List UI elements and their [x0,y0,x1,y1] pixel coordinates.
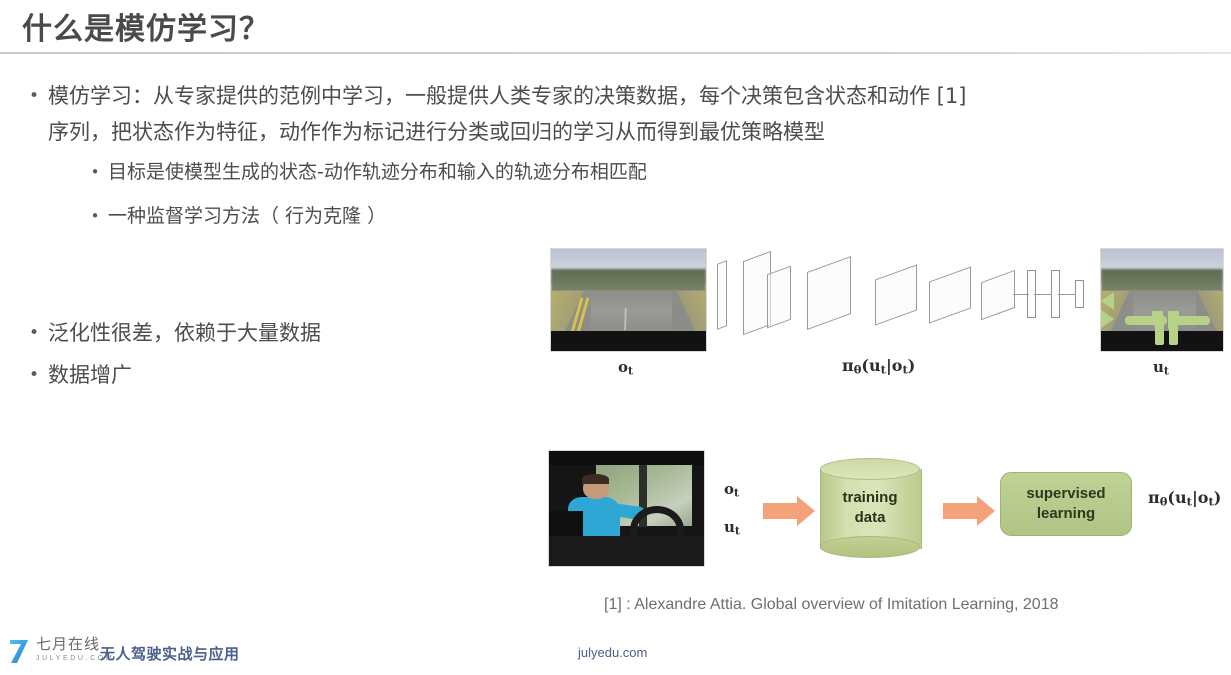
driver-cab-photo [548,450,705,567]
seven-logo-icon [8,638,30,664]
policy-given-o: |o [1192,488,1209,507]
caption-action: ut [1153,358,1169,377]
arrow-shaft [943,503,977,519]
training-data-label: training data [820,488,920,528]
arrow-head [797,496,815,526]
bullet-main-text: 模仿学习：从专家提供的范例中学习，一般提供人类专家的决策数据，每个决策包含状态和… [48,78,1220,150]
bullet-marker-icon: • [82,194,108,238]
conv-layer-3 [807,256,851,330]
policy-pi-symbol: π [842,356,854,375]
training-data-database-icon: training data [820,458,920,558]
slide-footer: 七月在线 JULYEDU.COM 无人驾驶实战与应用 julyedu.com [0,629,1231,675]
supervised-learning-box: supervised learning [1000,472,1132,536]
label-action: ut [724,510,740,548]
label-action-subscript: t [735,525,740,538]
dashboard-region [551,331,706,351]
conv-layer-4 [875,264,917,325]
bullet-sub-0: • 目标是使模型生成的状态-动作轨迹分布和输入的轨迹分布相匹配 [82,150,1220,194]
treeline-region [1101,269,1223,291]
cylinder-bottom [820,536,920,558]
conv-layer-5 [929,266,971,323]
cab-roof [549,451,704,465]
bullet-sub-0-text: 目标是使模型生成的状态-动作轨迹分布和输入的轨迹分布相匹配 [108,150,647,194]
training-data-line1: training [820,488,920,508]
observation-action-labels: ot ut [724,472,740,549]
bullet-marker-icon: • [20,354,48,396]
steering-arrow-overlay [1101,292,1223,345]
training-data-line2: data [820,508,920,528]
bullet-marker-icon: • [20,312,48,354]
caption-action-symbol: u [1153,358,1164,376]
bullet-marker-icon: • [20,78,48,114]
footer-site-link[interactable]: julyedu.com [578,645,647,660]
road-illustration [551,249,706,351]
green-arrow-left-bend [1152,311,1163,329]
page-title: 什么是模仿学习？ [22,4,270,48]
bullet-lower-0: • 泛化性很差，依赖于大量数据 [20,312,540,354]
citation-text: [1] : Alexandre Attia. Global overview o… [604,596,1059,614]
bullet-sub-1-text: 一种监督学习方法（ 行为克隆 ） [108,194,386,238]
supervised-output-policy: πθ(ut|ot) [1148,488,1221,509]
arrow-head [977,496,995,526]
fc-connector-2 [1034,294,1052,295]
bullet-list: • 模仿学习：从专家提供的范例中学习，一般提供人类专家的决策数据，每个决策包含状… [20,78,1220,238]
figure-behavior-cloning: ot πθ(ut|ot) ut [520,248,1220,388]
policy-open-arg: (u [1167,488,1186,507]
caption-action-subscript: t [1164,364,1169,377]
caption-observation-subscript: t [628,364,633,377]
bullet-lower-1-text: 数据增广 [48,354,132,396]
supervised-line2: learning [1026,504,1105,524]
conv-input-plane [717,260,727,330]
conv-layer-6 [981,270,1015,320]
bullet-main: • 模仿学习：从专家提供的范例中学习，一般提供人类专家的决策数据，每个决策包含状… [20,78,1220,150]
julyedu-logo[interactable]: 七月在线 JULYEDU.COM [8,637,114,664]
dashcam-road-photo [550,248,707,352]
label-observation-subscript: t [734,486,739,499]
slide-root: 什么是模仿学习？ • 模仿学习：从专家提供的范例中学习，一般提供人类专家的决策数… [0,0,1231,675]
bullet-sub-1: • 一种监督学习方法（ 行为克隆 ） [82,194,1220,238]
policy-open-arg: (u [861,356,880,375]
treeline-region [551,269,706,291]
bullet-main-line2: 序列，把状态作为特征，动作作为标记进行分类或回归的学习从而得到最优策略模型 [48,114,1220,150]
cab-dashboard [549,536,704,566]
policy-given-o: |o [886,356,903,375]
label-observation: ot [724,472,740,510]
bullet-marker-icon: • [82,150,108,194]
footer-course-title: 无人驾驶实战与应用 [100,643,240,664]
steering-action-photo [1100,248,1224,352]
arrow-shaft [763,503,797,519]
bullet-lower-0-text: 泛化性很差，依赖于大量数据 [48,312,321,354]
bullet-main-line1: 模仿学习：从专家提供的范例中学习，一般提供人类专家的决策数据，每个决策包含状态和… [48,78,1220,114]
cnn-architecture-diagram [715,250,1090,350]
title-divider [0,52,1231,54]
bullet-lower-1: • 数据增广 [20,354,540,396]
cylinder-top [820,458,920,480]
supervised-learning-label: supervised learning [1026,484,1105,524]
caption-observation-symbol: o [618,358,628,376]
policy-pi-symbol: π [1148,488,1160,507]
lower-bullet-list: • 泛化性很差，依赖于大量数据 • 数据增广 [20,312,540,396]
green-arrow-left-head-icon [1101,292,1114,310]
driver-hair [582,474,610,484]
fc-layer-output [1075,280,1084,308]
policy-close-arg: ) [908,356,916,375]
policy-close-arg: ) [1214,488,1222,507]
fc-connector-3 [1058,294,1076,295]
fc-connector-1 [1013,294,1029,295]
supervised-line1: supervised [1026,484,1105,504]
right-shoulder [672,291,706,332]
green-arrow-right-head-icon [1101,310,1114,328]
caption-policy: πθ(ut|ot) [842,356,915,377]
label-observation-symbol: o [724,480,734,498]
caption-observation: ot [618,358,633,377]
label-action-symbol: u [724,518,735,536]
figure-supervised-learning: ot ut training data supervised learning [548,450,1208,580]
conv-layer-2 [767,266,791,329]
